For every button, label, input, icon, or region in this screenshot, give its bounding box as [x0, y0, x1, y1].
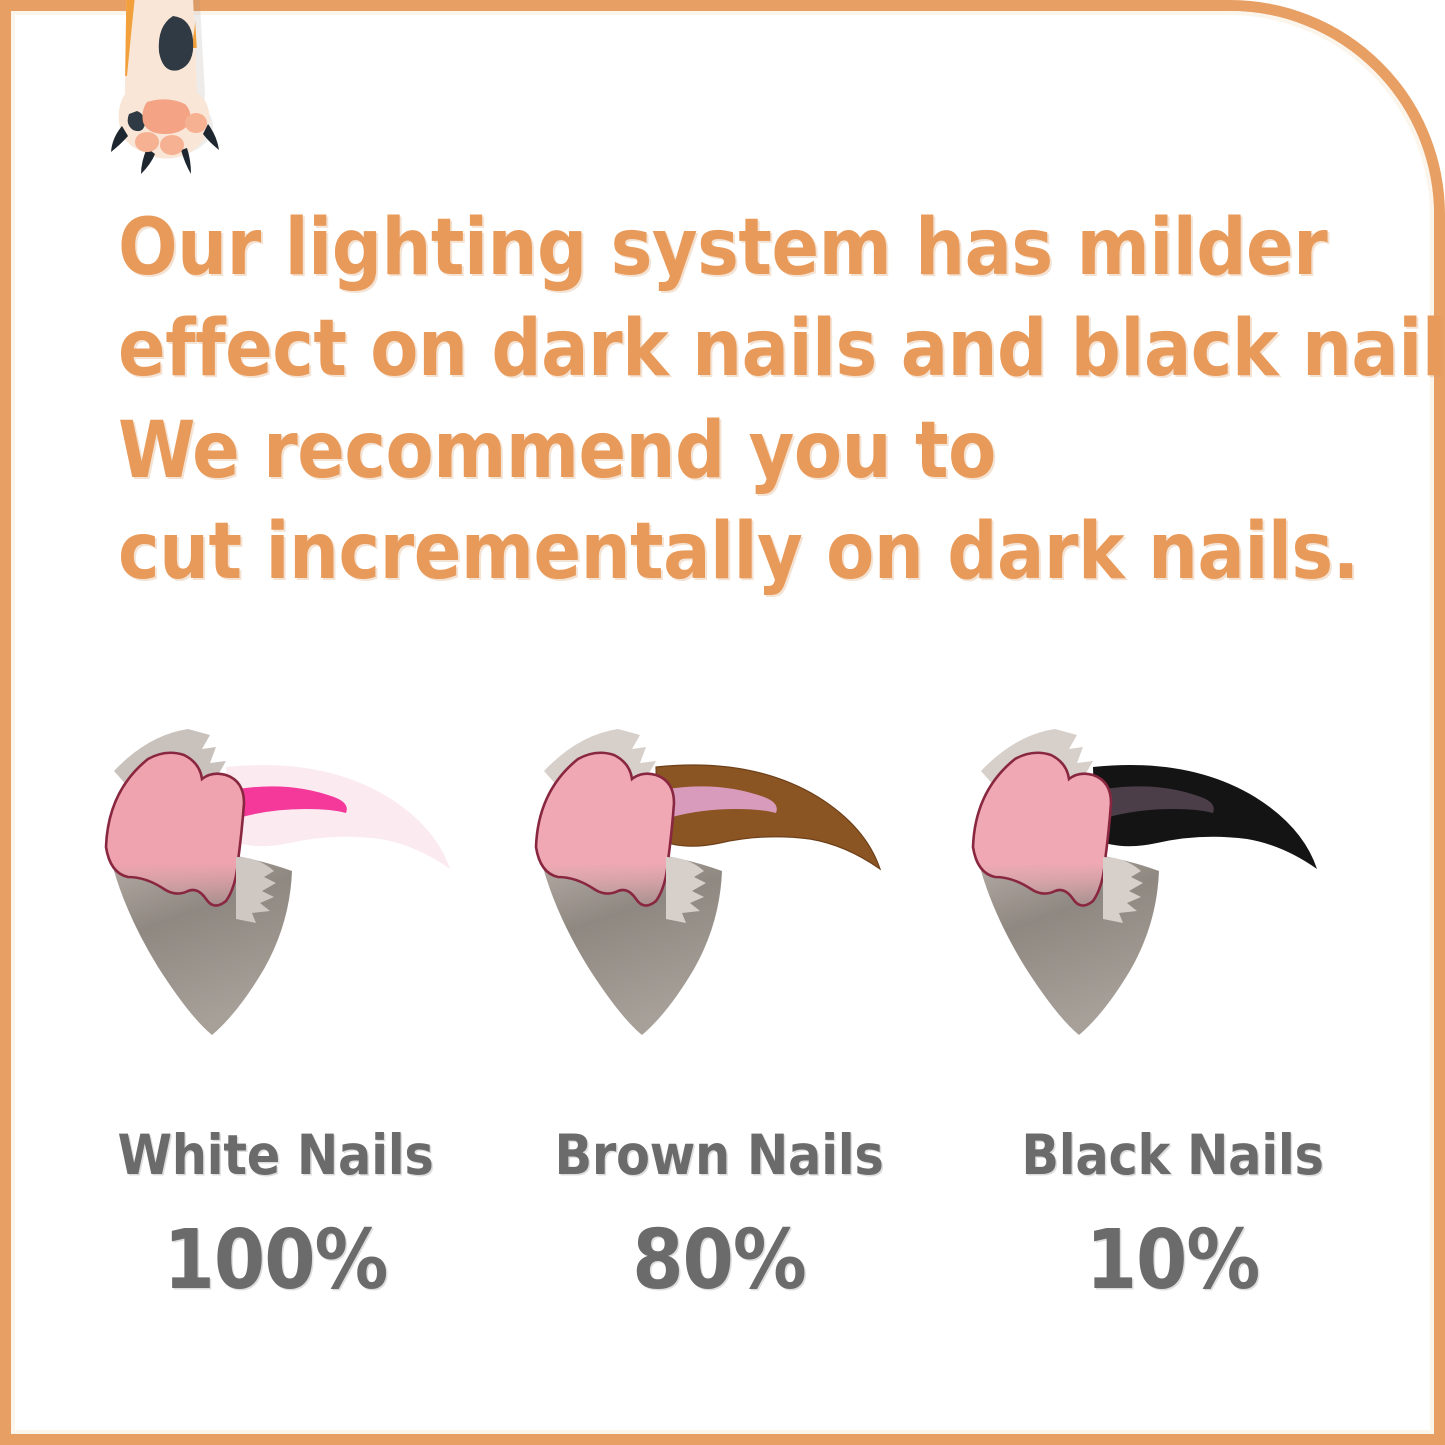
- nail-column-white: White Nails 100%: [60, 705, 503, 1325]
- nail-percent-black: 10%: [951, 1213, 1394, 1308]
- headline-line-3: We recommend you to: [118, 401, 1348, 502]
- nail-label-black: Black Nails: [951, 1123, 1394, 1187]
- headline-line-4: cut incrementally on dark nails.: [118, 502, 1348, 603]
- cat-claw-brown-illustration: [514, 705, 914, 1045]
- headline-line-1: Our lighting system has milder: [118, 198, 1348, 299]
- nail-column-black: Black Nails 10%: [947, 705, 1390, 1325]
- nail-percent-white: 100%: [54, 1213, 497, 1308]
- claw-shape: [226, 765, 450, 869]
- infographic-page: Our lighting system has milder effect on…: [0, 0, 1445, 1445]
- claw-shape: [1093, 765, 1317, 869]
- nail-label-white: White Nails: [54, 1123, 497, 1187]
- headline: Our lighting system has milder effect on…: [118, 198, 1348, 604]
- nail-percent-brown: 80%: [498, 1213, 941, 1308]
- cat-claw-black-illustration: [951, 705, 1351, 1045]
- headline-line-2: effect on dark nails and black nails.: [118, 299, 1348, 400]
- nail-column-brown: Brown Nails 80%: [504, 705, 947, 1325]
- claw-shape: [656, 765, 880, 869]
- nail-comparison-row: White Nails 100%: [60, 705, 1390, 1325]
- nail-label-brown: Brown Nails: [498, 1123, 941, 1187]
- cat-paw-illustration: [95, 0, 230, 190]
- cat-claw-white-illustration: [84, 705, 484, 1045]
